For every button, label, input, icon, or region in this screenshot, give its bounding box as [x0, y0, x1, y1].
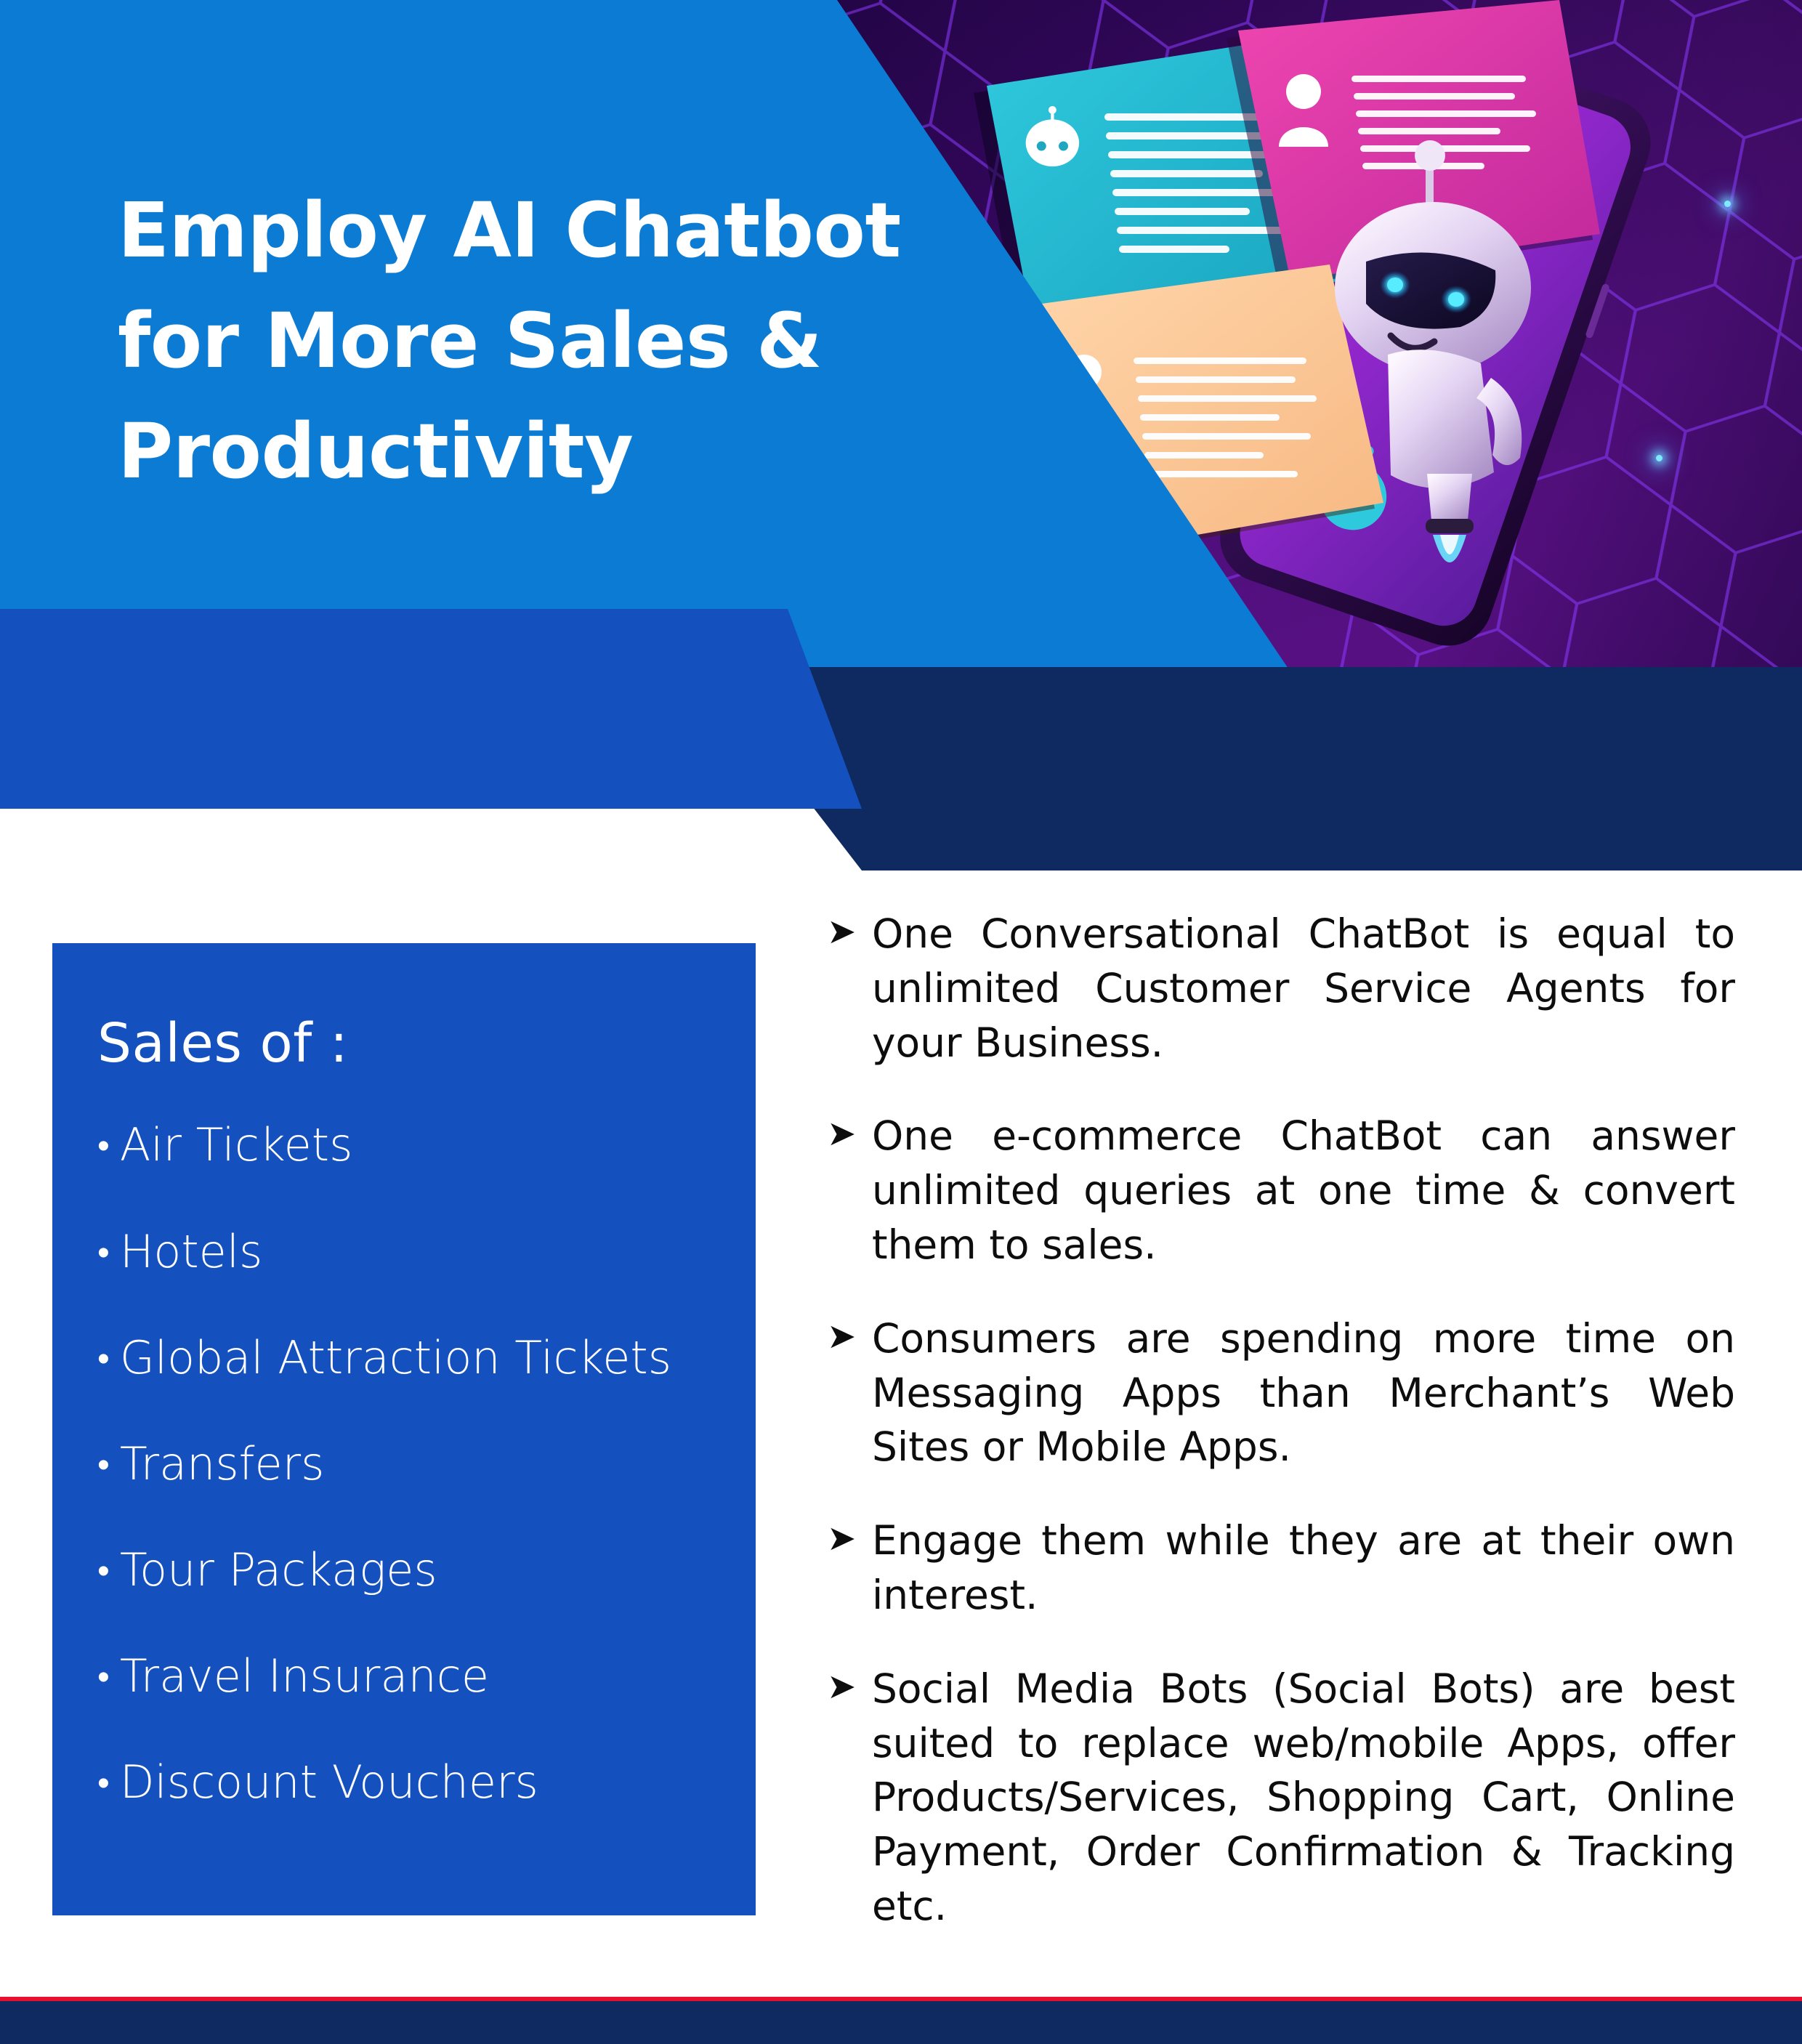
bullet-icon: • — [97, 1660, 110, 1694]
arrow-bullet-icon: ➤ — [827, 1662, 872, 1711]
footer-bar — [0, 2001, 1802, 2044]
arrow-bullet-icon: ➤ — [827, 907, 872, 956]
list-item: • Transfers — [97, 1437, 756, 1490]
list-item: • Hotels — [97, 1225, 756, 1278]
poster-page: Employ AI Chatbot for More Sales & Produ… — [0, 0, 1802, 2044]
arrow-bullet-icon: ➤ — [827, 1312, 872, 1361]
list-item: • Travel Insurance — [97, 1649, 756, 1702]
list-item: • Air Tickets — [97, 1118, 756, 1171]
list-item: • Global Attraction Tickets — [97, 1331, 756, 1384]
list-item: ➤ Consumers are spending more time on Me… — [827, 1312, 1735, 1474]
benefits-list: ➤ One Conversational ChatBot is equal to… — [827, 907, 1735, 1934]
list-item-label: Engage them while they are at their own … — [872, 1514, 1735, 1623]
bullet-icon: • — [97, 1341, 110, 1376]
bullet-icon: • — [97, 1766, 110, 1801]
list-item: ➤ One e-commerce ChatBot can answer unli… — [827, 1109, 1735, 1272]
list-item: ➤ Social Media Bots (Social Bots) are be… — [827, 1662, 1735, 1934]
hero-section: Employ AI Chatbot for More Sales & Produ… — [0, 0, 1802, 668]
list-item-label: Travel Insurance — [120, 1649, 489, 1702]
arrow-bullet-icon: ➤ — [827, 1109, 872, 1158]
list-item-label: Transfers — [120, 1437, 325, 1490]
list-item-label: Social Media Bots (Social Bots) are best… — [872, 1662, 1735, 1934]
sales-of-heading: Sales of : — [97, 1014, 756, 1073]
bullet-icon: • — [97, 1447, 110, 1482]
list-item-label: One Conversational ChatBot is equal to u… — [872, 907, 1735, 1070]
list-item-label: Consumers are spending more time on Mess… — [872, 1312, 1735, 1474]
bullet-icon: • — [97, 1235, 110, 1270]
list-item-label: Air Tickets — [120, 1118, 353, 1171]
sales-of-panel: Sales of : • Air Tickets • Hotels • Glob… — [52, 943, 756, 1915]
list-item-label: Global Attraction Tickets — [120, 1331, 671, 1384]
list-item: ➤ One Conversational ChatBot is equal to… — [827, 907, 1735, 1070]
list-item: ➤ Engage them while they are at their ow… — [827, 1514, 1735, 1623]
list-item-label: One e-commerce ChatBot can answer unlimi… — [872, 1109, 1735, 1272]
content-area: Sales of : • Air Tickets • Hotels • Glob… — [0, 879, 1802, 1998]
page-title: Employ AI Chatbot for More Sales & Produ… — [118, 176, 902, 506]
list-item: • Tour Packages — [97, 1543, 756, 1596]
list-item-label: Tour Packages — [120, 1543, 437, 1596]
list-item-label: Hotels — [120, 1225, 263, 1278]
bullet-icon: • — [97, 1128, 110, 1163]
bullet-icon: • — [97, 1554, 110, 1588]
list-item-label: Discount Vouchers — [120, 1756, 538, 1809]
list-item: • Discount Vouchers — [97, 1756, 756, 1809]
sales-of-list: • Air Tickets • Hotels • Global Attracti… — [97, 1118, 756, 1809]
arrow-bullet-icon: ➤ — [827, 1514, 872, 1563]
